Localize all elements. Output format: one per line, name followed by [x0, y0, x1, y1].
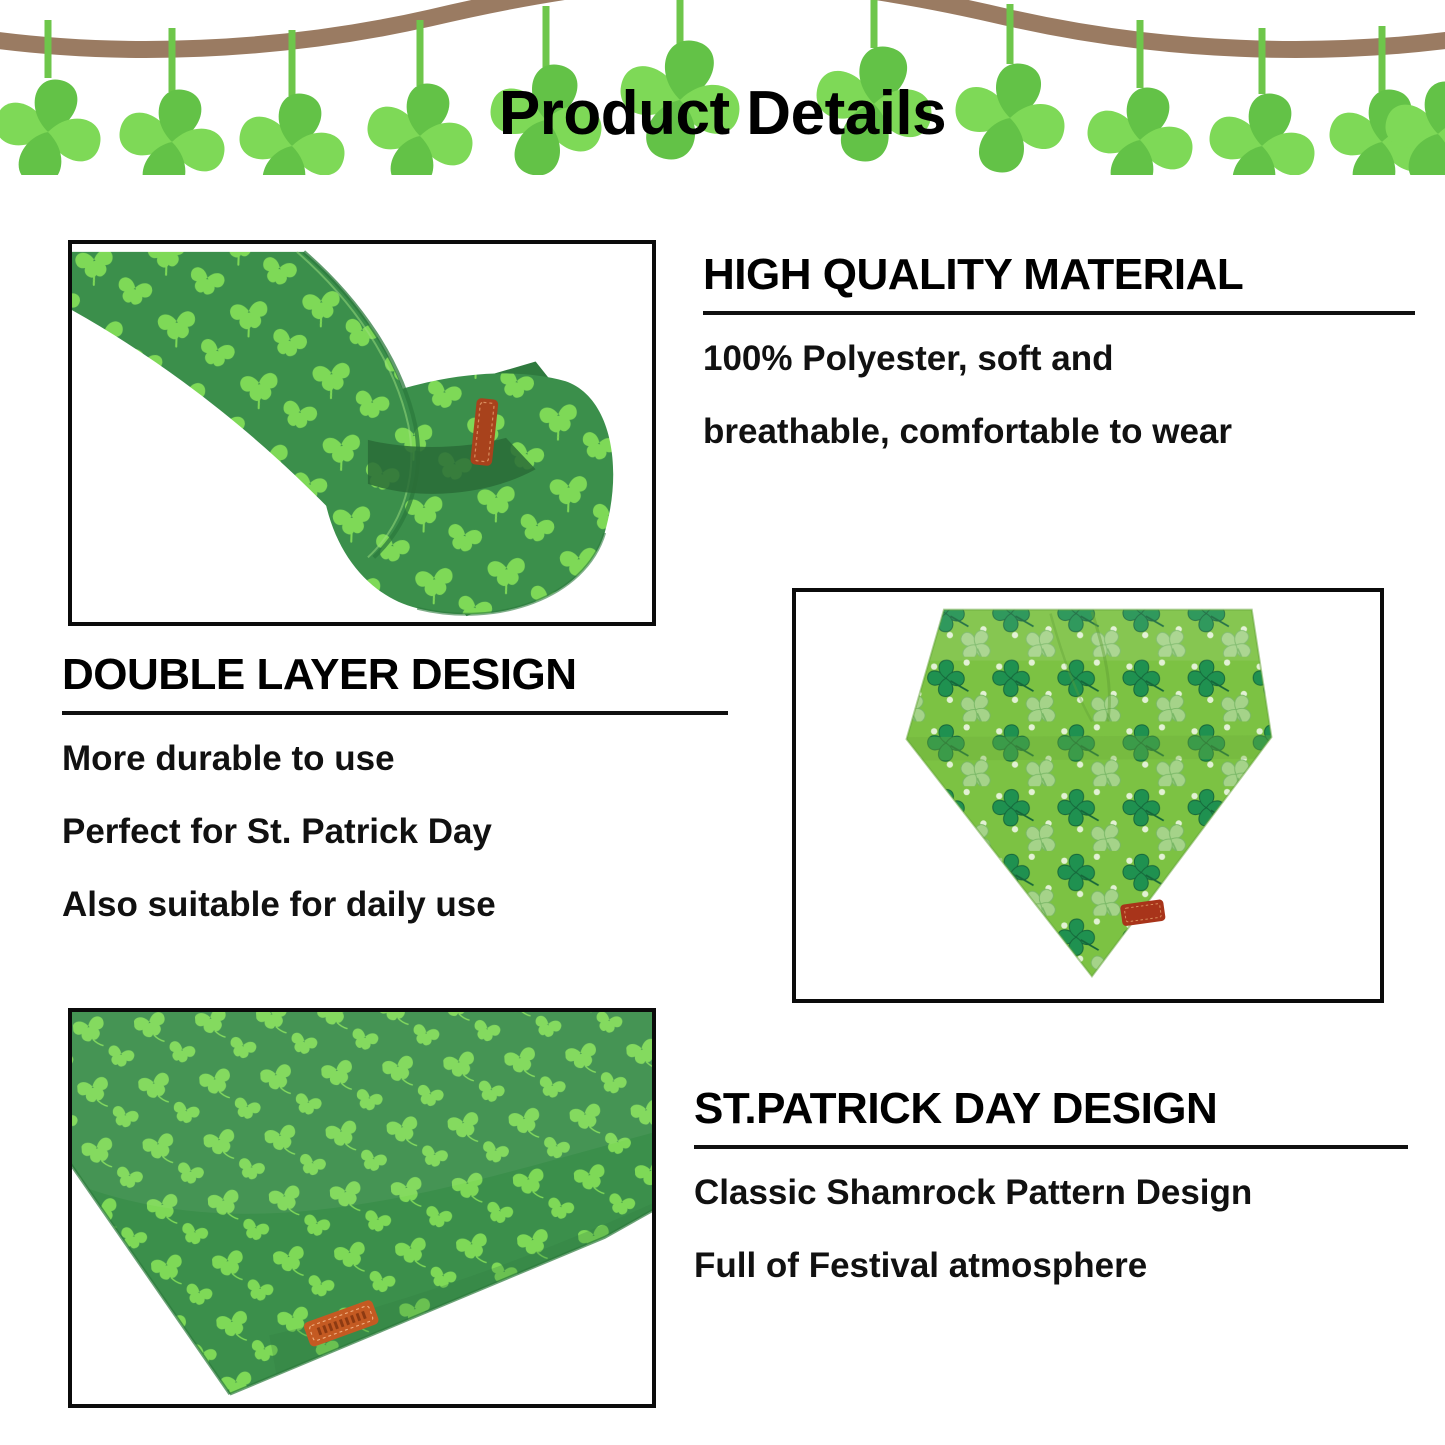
block-line: Full of Festival atmosphere	[694, 1248, 1408, 1283]
double-layer-design-block: DOUBLE LAYER DESIGN More durable to use …	[62, 652, 728, 922]
block-line: 100% Polyester, soft and	[703, 341, 1415, 376]
block-divider	[703, 311, 1415, 315]
block-line: More durable to use	[62, 741, 728, 776]
block-line: Perfect for St. Patrick Day	[62, 814, 728, 849]
product-details-page: Product Details	[0, 0, 1445, 1445]
block-line: breathable, comfortable to wear	[703, 414, 1415, 449]
bandana-triangle-photo[interactable]	[792, 588, 1384, 1003]
block-line: Classic Shamrock Pattern Design	[694, 1175, 1408, 1210]
page-title: Product Details	[0, 78, 1445, 149]
block-heading: HIGH QUALITY MATERIAL	[703, 252, 1415, 298]
block-divider	[694, 1145, 1408, 1149]
block-heading: ST.PATRICK DAY DESIGN	[694, 1086, 1408, 1132]
block-heading: DOUBLE LAYER DESIGN	[62, 652, 728, 698]
garland-rope	[0, 0, 1445, 49]
bandana-folded-photo[interactable]	[68, 240, 656, 626]
high-quality-material-block: HIGH QUALITY MATERIAL 100% Polyester, so…	[703, 252, 1415, 449]
bandana-flat-photo[interactable]	[68, 1008, 656, 1408]
st-patrick-day-design-block: ST.PATRICK DAY DESIGN Classic Shamrock P…	[694, 1086, 1408, 1283]
block-divider	[62, 711, 728, 715]
block-line: Also suitable for daily use	[62, 887, 728, 922]
